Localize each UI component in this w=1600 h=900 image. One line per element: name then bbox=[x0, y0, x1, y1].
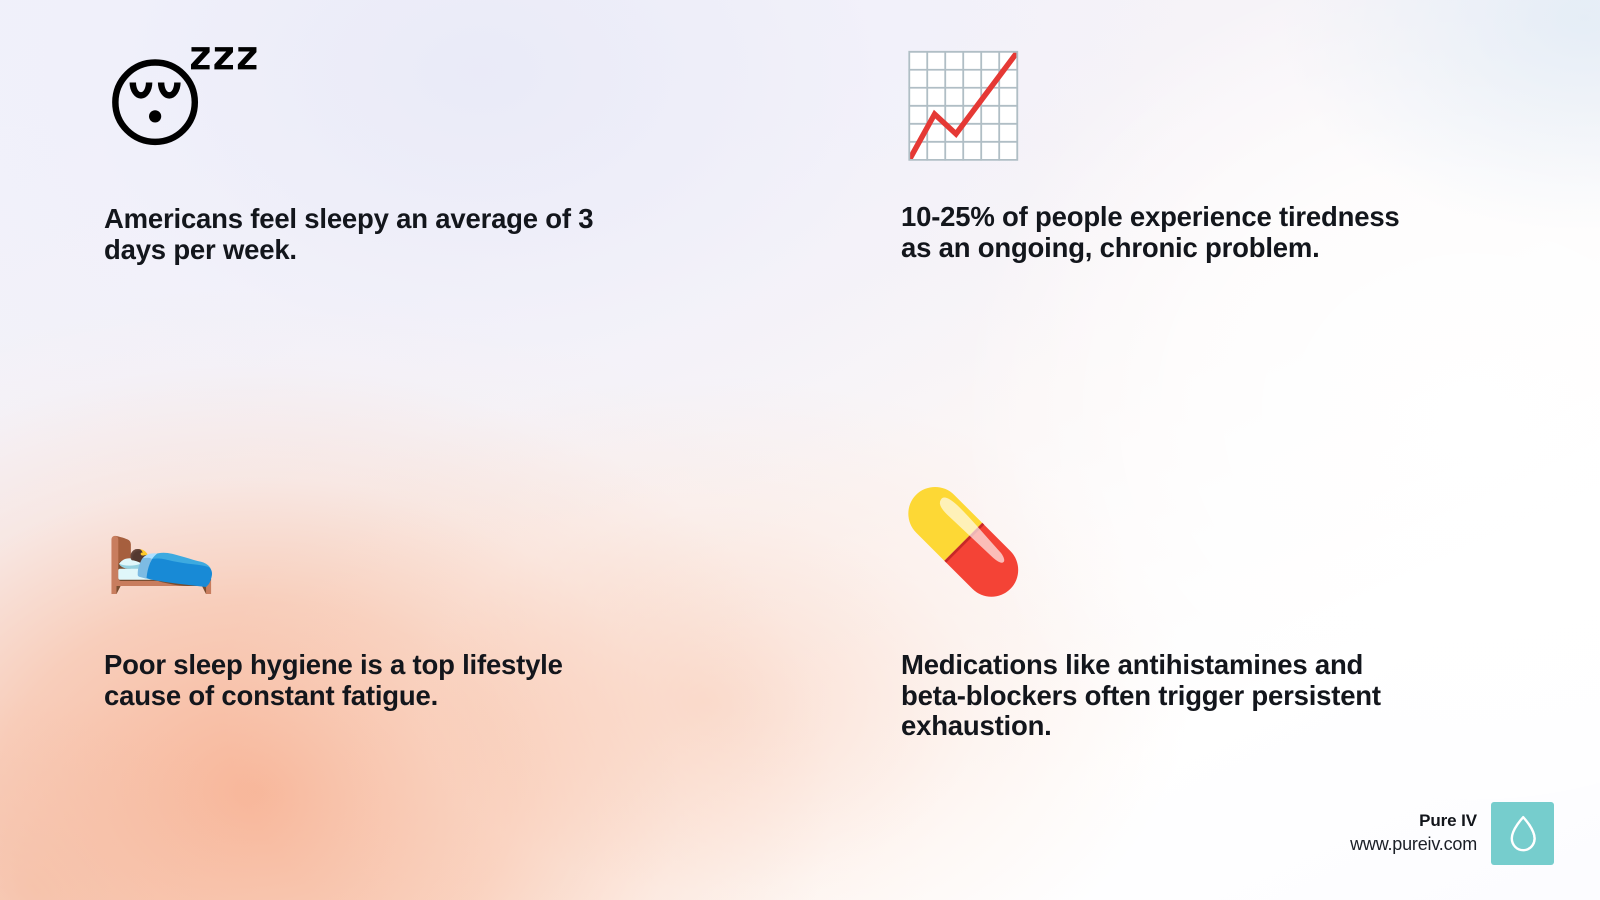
pill-emoji: 💊 bbox=[901, 492, 1471, 592]
fact-card-sleepy-days: 😴 Americans feel sleepy an average of 3 … bbox=[104, 56, 664, 265]
fact-card-sleep-hygiene: 🛌 Poor sleep hygiene is a top lifestyle … bbox=[104, 498, 664, 711]
brand-text-block: Pure IV www.pureiv.com bbox=[1350, 811, 1477, 857]
chart-increasing-emoji: 📈 bbox=[901, 56, 1471, 156]
spacer bbox=[104, 590, 664, 650]
brand-logo[interactable] bbox=[1491, 802, 1554, 865]
infographic-canvas: 😴 Americans feel sleepy an average of 3 … bbox=[0, 0, 1600, 900]
brand-footer[interactable]: Pure IV www.pureiv.com bbox=[1350, 802, 1554, 865]
fact-card-chronic-tiredness: 📈 10-25% of people experience tiredness … bbox=[901, 56, 1471, 263]
sleeping-face-emoji: 😴 bbox=[104, 56, 664, 154]
spacer bbox=[901, 592, 1471, 650]
fact-text-sleep-hygiene: Poor sleep hygiene is a top lifestyle ca… bbox=[104, 650, 664, 711]
fact-text-sleepy-days: Americans feel sleepy an average of 3 da… bbox=[104, 204, 664, 265]
fact-card-medications: 💊 Medications like antihistamines and be… bbox=[901, 492, 1471, 742]
fact-text-medications: Medications like antihistamines and beta… bbox=[901, 650, 1471, 742]
facts-grid: 😴 Americans feel sleepy an average of 3 … bbox=[0, 0, 1600, 900]
fact-text-chronic-tiredness: 10-25% of people experience tiredness as… bbox=[901, 202, 1471, 263]
brand-website-url[interactable]: www.pureiv.com bbox=[1350, 834, 1477, 856]
brand-name: Pure IV bbox=[1419, 811, 1477, 832]
person-in-bed-emoji: 🛌 bbox=[104, 498, 664, 590]
